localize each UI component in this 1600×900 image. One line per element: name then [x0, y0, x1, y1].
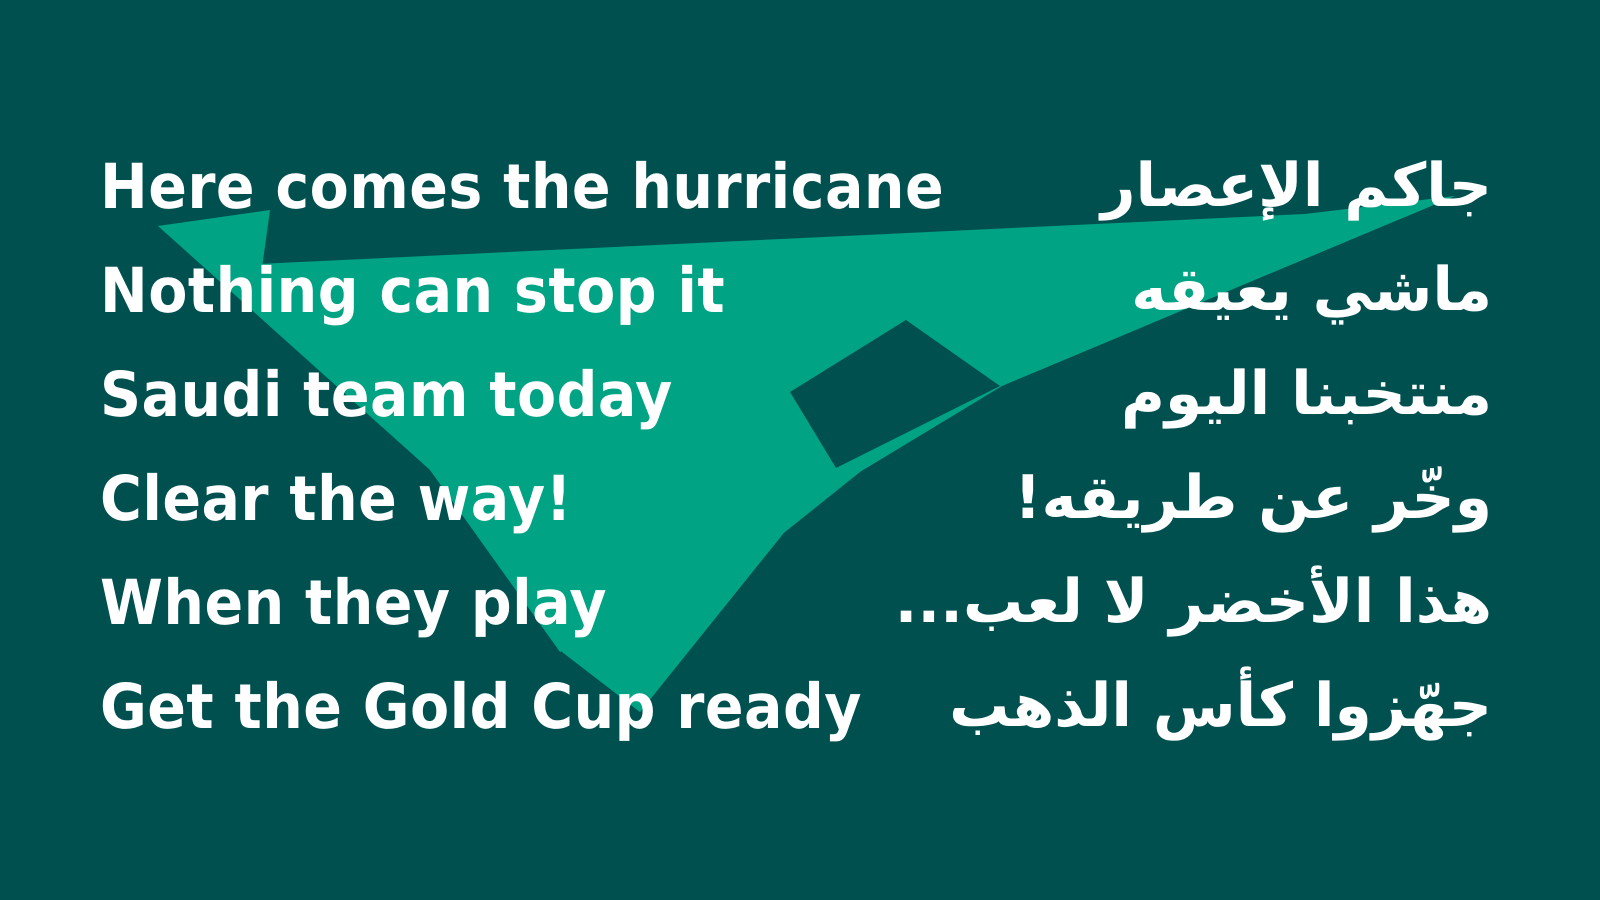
chant-row: Clear the way! وخّر عن طريقه! — [0, 460, 1600, 564]
chant-line-ar: منتخبنا اليوم — [1121, 354, 1492, 434]
chant-line-ar: جهّزوا كأس الذهب — [949, 666, 1492, 746]
chant-lines: Here comes the hurricane جاكم الإعصار No… — [0, 0, 1600, 900]
chant-line-en: Get the Gold Cup ready — [100, 668, 862, 746]
chant-line-ar: هذا الأخضر لا لعب... — [895, 562, 1492, 642]
chant-row: Nothing can stop it ماشي يعيقه — [0, 252, 1600, 356]
chant-row: Saudi team today منتخبنا اليوم — [0, 356, 1600, 460]
chant-line-en: Clear the way! — [100, 460, 572, 538]
chant-row: When they play هذا الأخضر لا لعب... — [0, 564, 1600, 668]
chant-line-ar: جاكم الإعصار — [1101, 146, 1492, 226]
chant-line-en: Saudi team today — [100, 356, 673, 434]
chant-row: Get the Gold Cup ready جهّزوا كأس الذهب — [0, 668, 1600, 772]
chant-row: Here comes the hurricane جاكم الإعصار — [0, 148, 1600, 252]
poster-canvas: Here comes the hurricane جاكم الإعصار No… — [0, 0, 1600, 900]
chant-line-ar: ماشي يعيقه — [1131, 250, 1492, 330]
chant-line-en: Here comes the hurricane — [100, 148, 944, 226]
chant-line-en: Nothing can stop it — [100, 252, 725, 330]
chant-line-en: When they play — [100, 564, 607, 642]
chant-line-ar: وخّر عن طريقه! — [1014, 458, 1492, 538]
